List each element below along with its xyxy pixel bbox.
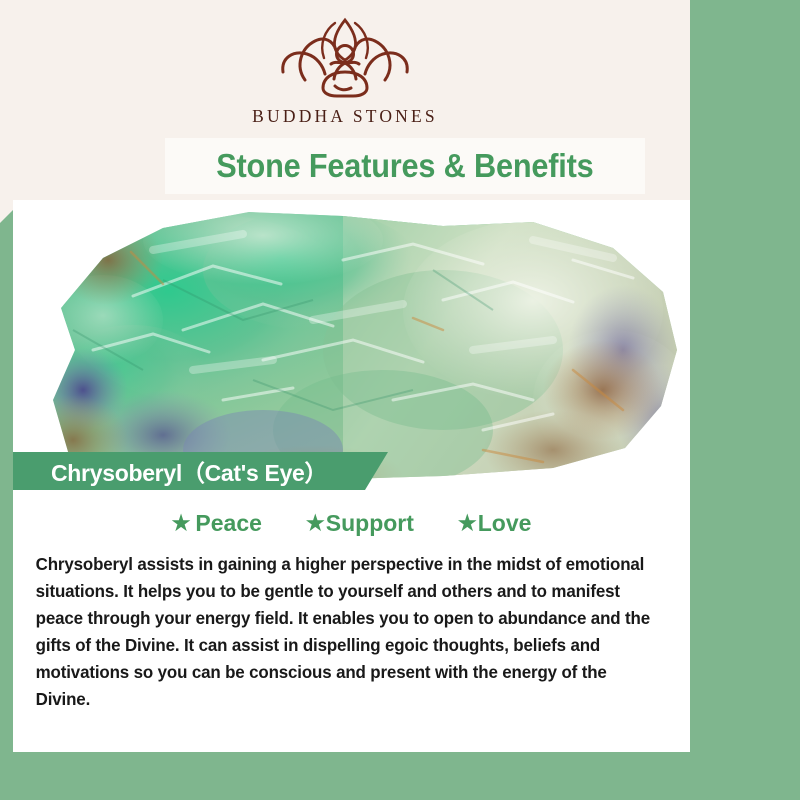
- stone-name-banner: Chrysoberyl（Cat's Eye）: [13, 452, 388, 490]
- benefit-tag-support: ★ Support: [306, 510, 414, 537]
- benefit-label-support: Support: [326, 510, 414, 537]
- frame-right-bar: [690, 0, 800, 800]
- page-title: Stone Features & Benefits: [216, 147, 593, 185]
- brand-name: BUDDHA STONES: [252, 106, 438, 127]
- star-icon: ★: [458, 513, 477, 534]
- stone-name-label: Chrysoberyl（Cat's Eye）: [13, 454, 327, 488]
- header: BUDDHA STONES Stone Features & Benefits: [0, 0, 690, 200]
- star-icon: ★: [306, 513, 325, 534]
- frame-bottom-bar: [0, 752, 740, 800]
- benefit-tag-peace: ★ Peace: [172, 510, 262, 537]
- content-card: ★ Peace ★ Support ★ Love Chrysoberyl ass…: [13, 490, 690, 752]
- star-icon: ★: [172, 513, 191, 534]
- brand-logo: BUDDHA STONES: [0, 14, 690, 127]
- benefit-label-love: Love: [478, 510, 532, 537]
- benefit-tag-love: ★ Love: [458, 510, 532, 537]
- benefit-label-peace: Peace: [195, 510, 262, 537]
- stone-photo: [13, 200, 690, 490]
- stone-description: Chrysoberyl assists in gaining a higher …: [13, 537, 680, 713]
- lotus-meditation-figure-icon: [261, 14, 429, 102]
- title-banner: Stone Features & Benefits: [165, 138, 645, 194]
- benefit-tag-list: ★ Peace ★ Support ★ Love: [13, 490, 690, 537]
- infographic-page: BUDDHA STONES Stone Features & Benefits: [0, 0, 800, 800]
- stone-specimen-image: [13, 200, 690, 490]
